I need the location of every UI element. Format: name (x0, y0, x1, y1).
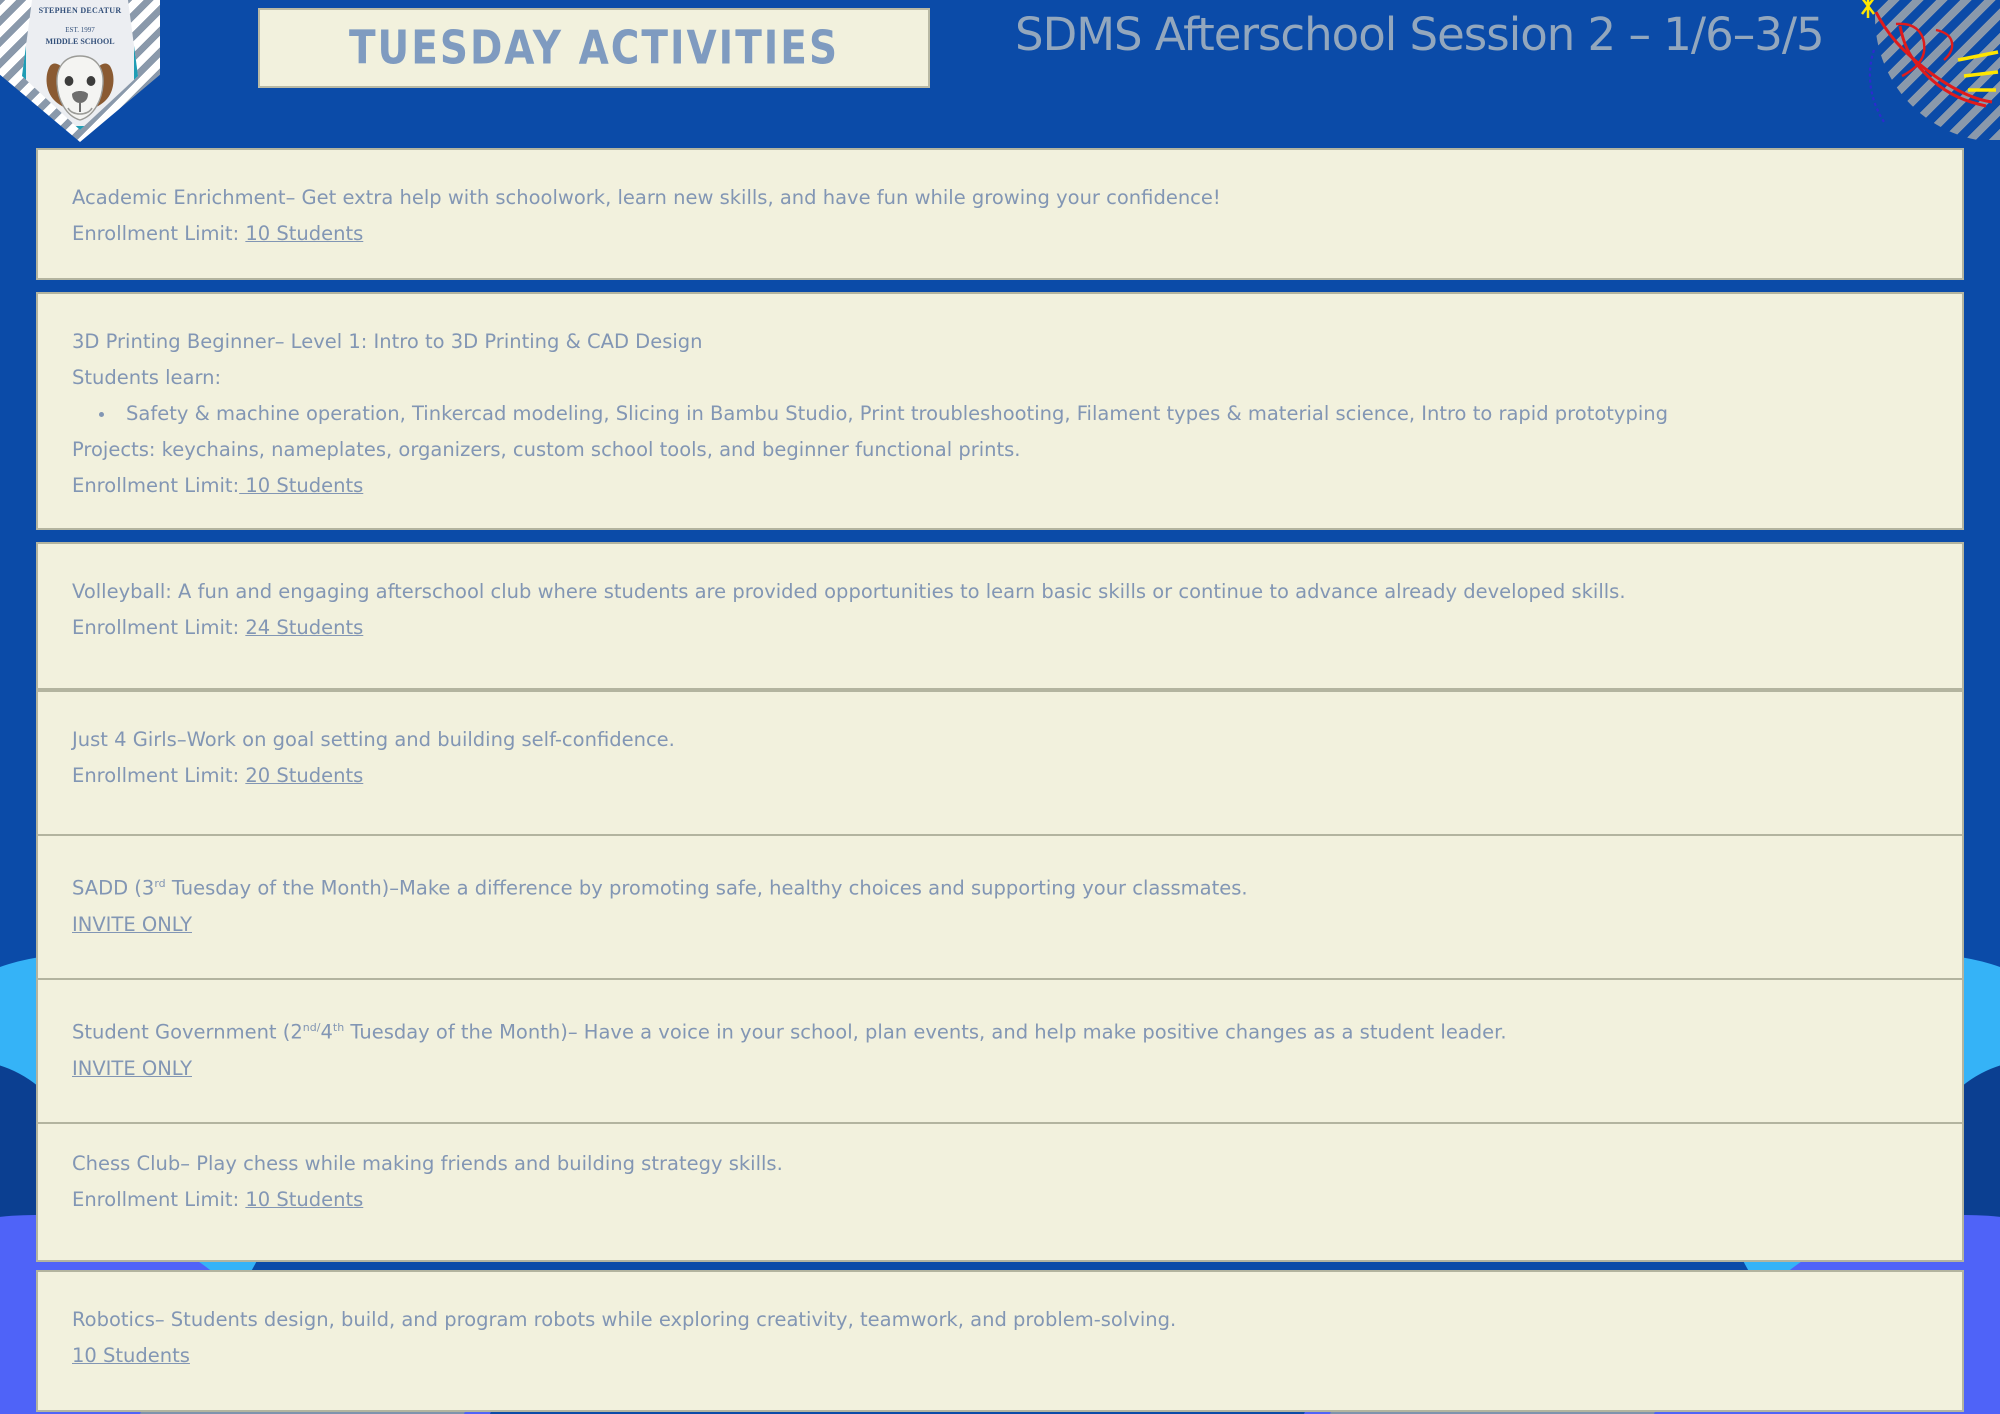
activity-description: Just 4 Girls–Work on goal setting and bu… (72, 722, 1928, 758)
activity-card-list: Academic Enrichment– Get extra help with… (0, 0, 2000, 1414)
enrollment-value[interactable]: INVITE ONLY (72, 907, 192, 943)
enrollment-value[interactable]: 24 Students (245, 616, 363, 639)
activity-enrollment: Enrollment Limit: 10 Students (72, 468, 1928, 504)
activity-bullet-list: Safety & machine operation, Tinkercad mo… (116, 396, 1928, 432)
activity-card-volleyball[interactable]: Volleyball: A fun and engaging afterscho… (36, 542, 1964, 690)
desc-part-2: 4 (320, 1021, 332, 1044)
enrollment-label: Enrollment Limit: (72, 764, 239, 787)
desc-superscript: rd (154, 877, 165, 890)
desc-superscript-2: th (333, 1021, 344, 1034)
activity-card-chess-club[interactable]: Chess Club– Play chess while making frie… (36, 1122, 1964, 1262)
activity-enrollment: Enrollment Limit: 10 Students (72, 1182, 1928, 1218)
activity-description: SADD (3rd Tuesday of the Month)–Make a d… (72, 866, 1928, 907)
activity-card-robotics[interactable]: Robotics– Students design, build, and pr… (36, 1270, 1964, 1412)
activity-card-academic-enrichment[interactable]: Academic Enrichment– Get extra help with… (36, 148, 1964, 280)
desc-part-1: Student Government (2 (72, 1021, 303, 1044)
activity-card-3d-printing[interactable]: 3D Printing Beginner– Level 1: Intro to … (36, 292, 1964, 530)
desc-part-3: Tuesday of the Month)– Have a voice in y… (344, 1021, 1506, 1044)
activity-bullet-item: Safety & machine operation, Tinkercad mo… (116, 396, 1928, 432)
activity-description: Volleyball: A fun and engaging afterscho… (72, 574, 1928, 610)
enrollment-value[interactable]: 10 Students (239, 474, 363, 497)
enrollment-label: Enrollment Limit: (72, 1188, 239, 1211)
activity-enrollment: Enrollment Limit: 10 Students (72, 216, 1928, 252)
enrollment-value[interactable]: INVITE ONLY (72, 1051, 192, 1087)
activity-card-just-4-girls[interactable]: Just 4 Girls–Work on goal setting and bu… (36, 690, 1964, 838)
desc-part-2: Tuesday of the Month)–Make a difference … (166, 877, 1248, 900)
slide-canvas: STEPHEN DECATUR EST. 1997 MIDDLE SCHOOL … (0, 0, 2000, 1414)
activity-description: Robotics– Students design, build, and pr… (72, 1302, 1928, 1338)
enrollment-label: Enrollment Limit: (72, 474, 239, 497)
desc-part-1: SADD (3 (72, 877, 154, 900)
enrollment-value[interactable]: 10 Students (245, 222, 363, 245)
enrollment-value[interactable]: 10 Students (72, 1338, 190, 1374)
enrollment-label: Enrollment Limit: (72, 616, 239, 639)
activity-card-sadd[interactable]: SADD (3rd Tuesday of the Month)–Make a d… (36, 834, 1964, 982)
activity-enrollment: Enrollment Limit: 24 Students (72, 610, 1928, 646)
activity-description: 3D Printing Beginner– Level 1: Intro to … (72, 324, 1928, 360)
activity-description: Student Government (2nd/4th Tuesday of t… (72, 1010, 1928, 1051)
activity-projects: Projects: keychains, nameplates, organiz… (72, 432, 1928, 468)
desc-superscript-1: nd/ (303, 1021, 321, 1034)
activity-card-student-government[interactable]: Student Government (2nd/4th Tuesday of t… (36, 978, 1964, 1126)
activity-description: Academic Enrichment– Get extra help with… (72, 180, 1928, 216)
enrollment-value[interactable]: 10 Students (245, 1188, 363, 1211)
activity-description: Chess Club– Play chess while making frie… (72, 1146, 1928, 1182)
enrollment-label: Enrollment Limit: (72, 222, 239, 245)
activity-enrollment: Enrollment Limit: 20 Students (72, 758, 1928, 794)
enrollment-value[interactable]: 20 Students (245, 764, 363, 787)
activity-subheading: Students learn: (72, 360, 1928, 396)
